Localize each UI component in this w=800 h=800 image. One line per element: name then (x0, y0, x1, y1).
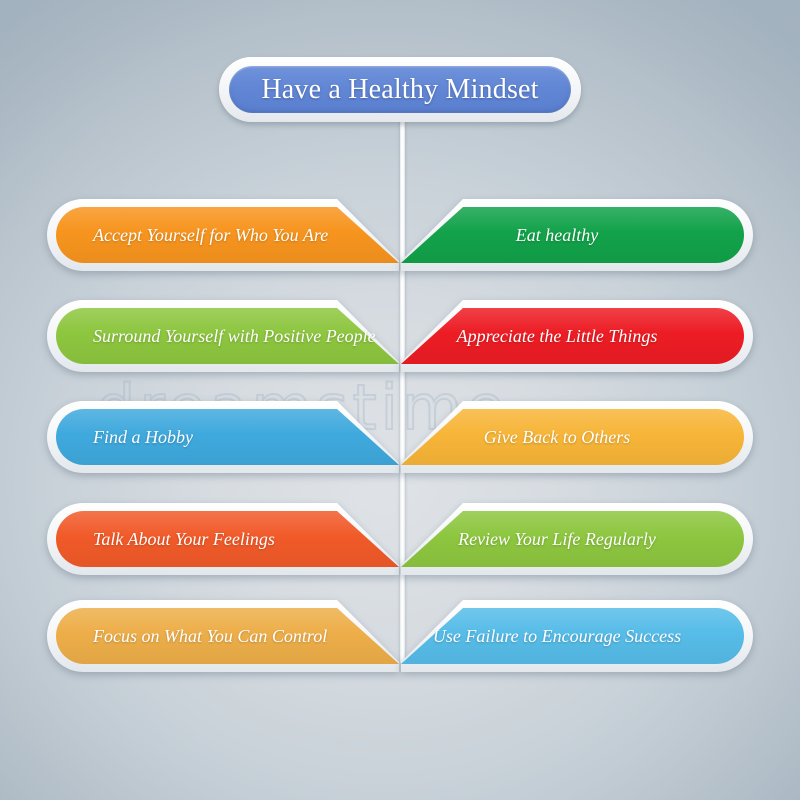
banner-label: Give Back to Others (401, 401, 753, 473)
title-banner: Have a Healthy Mindset (219, 57, 581, 122)
banner-left[interactable]: Focus on What You Can Control (47, 600, 399, 672)
banner-label: Find a Hobby (47, 401, 399, 473)
banner-row: Talk About Your FeelingsReview Your Life… (0, 503, 800, 581)
banner-right[interactable]: Appreciate the Little Things (401, 300, 753, 372)
banner-left[interactable]: Surround Yourself with Positive People (47, 300, 399, 372)
banner-row: Surround Yourself with Positive PeopleAp… (0, 300, 800, 378)
banner-right[interactable]: Review Your Life Regularly (401, 503, 753, 575)
banner-label: Review Your Life Regularly (401, 503, 753, 575)
banner-label: Focus on What You Can Control (47, 600, 399, 672)
infographic-canvas: dreamstime Have a Healthy Mindset Accept… (0, 0, 800, 800)
banner-label: Eat healthy (401, 199, 753, 271)
banner-row: Find a HobbyGive Back to Others (0, 401, 800, 479)
banner-row: Focus on What You Can ControlUse Failure… (0, 600, 800, 678)
banner-left[interactable]: Find a Hobby (47, 401, 399, 473)
banner-label: Surround Yourself with Positive People (47, 300, 399, 372)
banner-label: Appreciate the Little Things (401, 300, 753, 372)
banner-label: Accept Yourself for Who You Are (47, 199, 399, 271)
banner-right[interactable]: Give Back to Others (401, 401, 753, 473)
title-banner-fill: Have a Healthy Mindset (229, 66, 571, 113)
banner-left[interactable]: Accept Yourself for Who You Are (47, 199, 399, 271)
banner-right[interactable]: Eat healthy (401, 199, 753, 271)
banner-label: Talk About Your Feelings (47, 503, 399, 575)
banner-row: Accept Yourself for Who You AreEat healt… (0, 199, 800, 277)
page-title: Have a Healthy Mindset (261, 74, 538, 106)
banner-right[interactable]: Use Failure to Encourage Success (401, 600, 753, 672)
banner-label: Use Failure to Encourage Success (401, 600, 753, 672)
banner-left[interactable]: Talk About Your Feelings (47, 503, 399, 575)
